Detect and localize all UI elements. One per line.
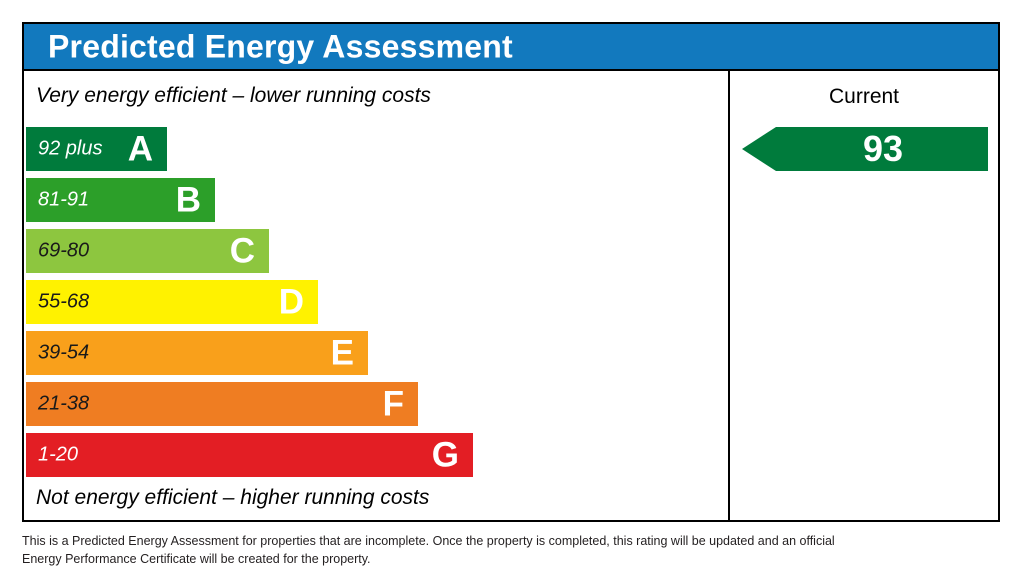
current-rating-value: 93 xyxy=(742,127,988,171)
band-bar-c: 69-80 C xyxy=(26,229,269,273)
band-row: 21-38 F xyxy=(26,382,726,426)
certificate-body: Very energy efficient – lower running co… xyxy=(24,71,998,520)
band-letter-b: B xyxy=(176,183,201,218)
current-column-label: Current xyxy=(730,85,998,109)
band-range-b: 81-91 xyxy=(38,189,89,212)
current-rating-arrow: 93 xyxy=(742,127,988,171)
efficiency-caption-bottom: Not energy efficient – higher running co… xyxy=(36,486,429,510)
band-range-c: 69-80 xyxy=(38,240,89,263)
band-letter-c: C xyxy=(230,234,255,269)
band-bar-e: 39-54 E xyxy=(26,331,368,375)
band-range-a: 92 plus xyxy=(38,138,103,161)
band-range-f: 21-38 xyxy=(38,393,89,416)
band-bar-f: 21-38 F xyxy=(26,382,418,426)
band-bar-d: 55-68 D xyxy=(26,280,318,324)
certificate-header: Predicted Energy Assessment xyxy=(24,24,998,71)
band-bar-a: 92 plus A xyxy=(26,127,167,171)
page-title: Predicted Energy Assessment xyxy=(48,28,513,65)
band-range-e: 39-54 xyxy=(38,342,89,365)
efficiency-caption-top: Very energy efficient – lower running co… xyxy=(36,84,431,108)
band-row: 81-91 B xyxy=(26,178,726,222)
band-letter-d: D xyxy=(279,285,304,320)
band-row: 55-68 D xyxy=(26,280,726,324)
band-range-g: 1-20 xyxy=(38,444,78,467)
epc-certificate: Predicted Energy Assessment Very energy … xyxy=(22,22,1000,522)
band-letter-e: E xyxy=(331,336,354,371)
band-letter-g: G xyxy=(432,438,459,473)
band-letter-a: A xyxy=(128,132,153,167)
energy-band-list: 92 plus A 81-91 B 69-80 C xyxy=(26,127,726,484)
current-rating-pane: Current 93 xyxy=(730,71,998,520)
certificate-footnote: This is a Predicted Energy Assessment fo… xyxy=(22,532,852,568)
energy-bands-pane: Very energy efficient – lower running co… xyxy=(24,71,730,520)
band-letter-f: F xyxy=(383,387,404,422)
band-row: 39-54 E xyxy=(26,331,726,375)
band-row: 92 plus A xyxy=(26,127,726,171)
band-bar-g: 1-20 G xyxy=(26,433,473,477)
band-row: 1-20 G xyxy=(26,433,726,477)
band-range-d: 55-68 xyxy=(38,291,89,314)
band-bar-b: 81-91 B xyxy=(26,178,215,222)
band-row: 69-80 C xyxy=(26,229,726,273)
